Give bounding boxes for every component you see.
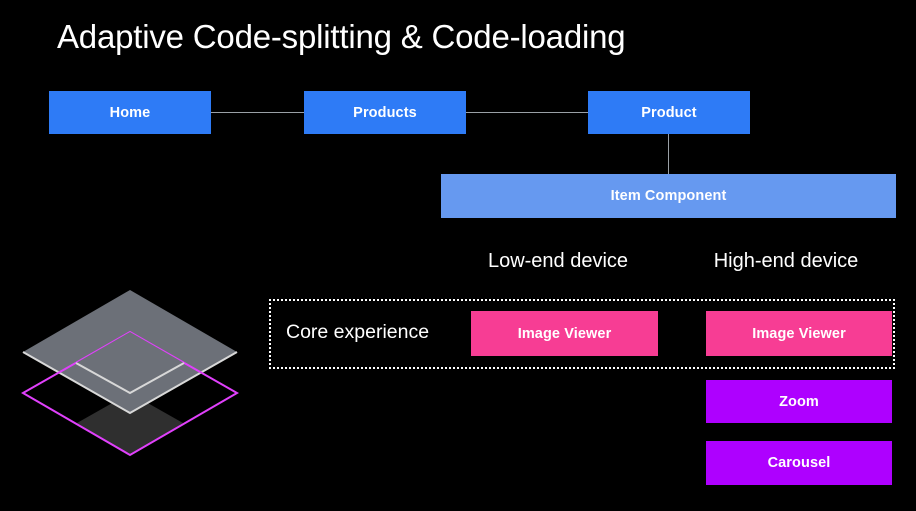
chip-low-end-image-viewer[interactable]: Image Viewer	[471, 311, 658, 356]
chip-high-end-image-viewer[interactable]: Image Viewer	[706, 311, 892, 356]
chip-high-end-zoom[interactable]: Zoom	[706, 380, 892, 423]
flow-box-item-component[interactable]: Item Component	[441, 174, 896, 218]
column-header-high-end-device: High-end device	[671, 250, 901, 273]
column-header-low-end-device: Low-end device	[443, 250, 673, 273]
flow-box-products[interactable]: Products	[304, 91, 466, 134]
slide-canvas: Adaptive Code-splitting & Code-loading H…	[0, 0, 916, 511]
page-title: Adaptive Code-splitting & Code-loading	[57, 18, 625, 56]
core-experience-label: Core experience	[286, 321, 429, 344]
layered-diamonds-icon	[8, 280, 258, 495]
chip-high-end-carousel[interactable]: Carousel	[706, 441, 892, 485]
flow-box-home[interactable]: Home	[49, 91, 211, 134]
flow-box-product[interactable]: Product	[588, 91, 750, 134]
connector-products-product	[466, 112, 588, 113]
connector-home-products	[211, 112, 304, 113]
connector-product-item-component	[668, 134, 669, 175]
